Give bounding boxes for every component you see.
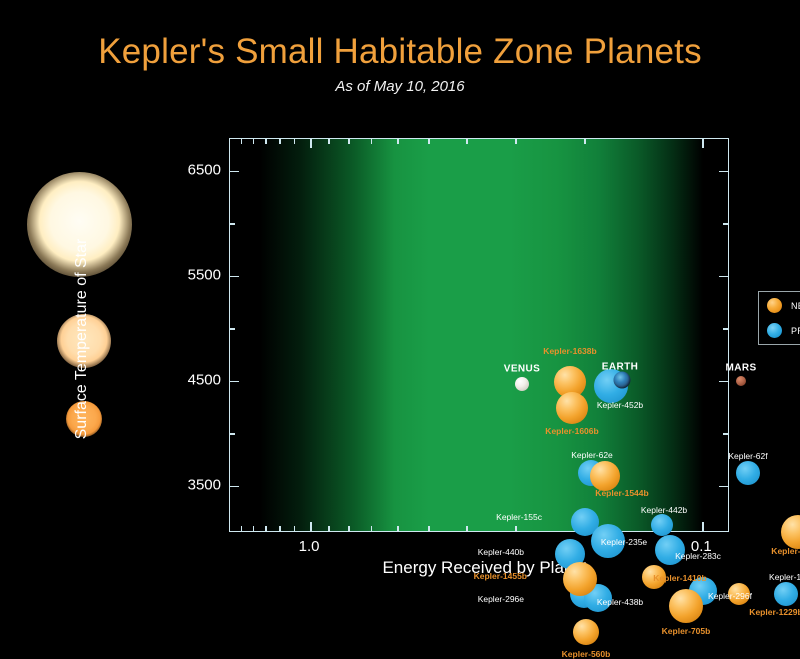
x-axis-tick: [515, 526, 517, 531]
y-axis-tick: [719, 276, 728, 278]
x-axis-tick: [397, 526, 399, 531]
planet-marker-kepler-186f[interactable]: [774, 582, 798, 606]
y-axis-tick: [230, 486, 239, 488]
planet-label-kepler-1606b: Kepler-1606b: [545, 426, 598, 436]
planet-label-kepler-62f: Kepler-62f: [728, 451, 767, 461]
y-axis-tick: [230, 276, 239, 278]
y-axis-tick: [230, 171, 239, 173]
x-axis-tick: [702, 139, 704, 148]
planet-marker-kepler-62f[interactable]: [736, 461, 760, 485]
planet-marker-kepler-1544b[interactable]: [590, 461, 620, 491]
planet-label-kepler-1229b: Kepler-1229b: [749, 607, 800, 617]
x-axis-tick: [702, 522, 704, 531]
x-axis-tick: [294, 139, 296, 144]
planet-label-kepler-1638b: Kepler-1638b: [543, 346, 596, 356]
legend-item-previously-verified: PREVIOUSLY VERIFIED PLANET: [767, 323, 800, 338]
planet-marker-kepler-1455b[interactable]: [563, 562, 597, 596]
page-title: Kepler's Small Habitable Zone Planets: [0, 34, 800, 69]
y-tick-label: 3500: [161, 476, 221, 493]
x-axis-tick: [371, 526, 373, 531]
x-axis-tick: [428, 139, 430, 144]
page-subtitle: As of May 10, 2016: [0, 78, 800, 95]
y-axis-tick: [230, 381, 239, 383]
y-axis-tick: [230, 433, 235, 435]
y-axis-tick: [230, 223, 235, 225]
legend-item-newly-validated: NEWLY VALIDATED PLANET: [767, 298, 800, 313]
planet-label-kepler-452b: Kepler-452b: [597, 400, 643, 410]
planet-label-kepler-62e: Kepler-62e: [571, 450, 613, 460]
planet-marker-kepler-1606b[interactable]: [556, 392, 588, 424]
legend-label-newly-validated: NEWLY VALIDATED PLANET: [791, 301, 800, 311]
title-block: Kepler's Small Habitable Zone Planets As…: [0, 34, 800, 95]
y-axis-tick: [723, 223, 728, 225]
planet-marker-kepler-442b[interactable]: [651, 514, 673, 536]
y-axis-tick: [719, 171, 728, 173]
x-axis-tick: [466, 139, 468, 144]
planet-label-kepler-1544b: Kepler-1544b: [595, 488, 648, 498]
x-axis-tick: [253, 139, 255, 144]
planet-label-kepler-440b: Kepler-440b: [478, 547, 524, 557]
x-axis-tick: [584, 139, 586, 144]
planet-label-kepler-186f: Kepler-186f: [769, 572, 800, 582]
plot-area: Kepler-1638bKepler-1606bKepler-1544bKepl…: [229, 138, 729, 532]
x-axis-tick: [265, 526, 267, 531]
y-axis-tick: [723, 433, 728, 435]
x-axis-tick: [348, 526, 350, 531]
planet-marker-mars[interactable]: [736, 376, 746, 386]
planet-label-kepler-1410b: Kepler-1410b: [653, 573, 706, 583]
planet-label-kepler-560b: Kepler-560b: [562, 649, 611, 659]
y-axis-tick: [719, 486, 728, 488]
x-tick-label: 1.0: [299, 538, 320, 555]
legend-label-previously-verified: PREVIOUSLY VERIFIED PLANET: [791, 326, 800, 336]
y-tick-label: 4500: [161, 371, 221, 388]
planet-marker-kepler-705b[interactable]: [669, 589, 703, 623]
y-axis-title: Surface Temperature of Star: [73, 219, 91, 459]
planet-marker-kepler-560b[interactable]: [573, 619, 599, 645]
legend-swatch-blue-icon: [767, 323, 782, 338]
y-axis-tick: [723, 328, 728, 330]
planet-label-kepler-296f: Kepler-296f: [708, 591, 752, 601]
planet-marker-venus[interactable]: [515, 377, 529, 391]
x-axis-tick: [253, 526, 255, 531]
x-axis-tick: [265, 139, 267, 144]
x-axis-tick: [397, 139, 399, 144]
y-tick-label: 5500: [161, 266, 221, 283]
x-axis-tick: [279, 139, 281, 144]
legend-swatch-orange-icon: [767, 298, 782, 313]
planet-label-kepler-283c: Kepler-283c: [675, 551, 721, 561]
planet-label-kepler-442b: Kepler-442b: [641, 505, 687, 515]
x-axis-tick: [466, 526, 468, 531]
x-axis-tick: [515, 139, 517, 144]
x-axis-tick: [328, 526, 330, 531]
planet-label-kepler-155c: Kepler-155c: [496, 512, 542, 522]
legend: NEWLY VALIDATED PLANET PREVIOUSLY VERIFI…: [758, 291, 800, 345]
x-axis-tick: [241, 139, 243, 144]
planet-label-mars: MARS: [725, 363, 756, 374]
planet-label-kepler-296e: Kepler-296e: [478, 594, 524, 604]
planet-marker-earth[interactable]: [614, 372, 631, 389]
y-axis-tick: [719, 381, 728, 383]
x-axis-tick: [328, 139, 330, 144]
planet-label-kepler-1593b: Kepler-1593b: [771, 546, 800, 556]
x-axis-tick: [294, 526, 296, 531]
x-axis-tick: [348, 139, 350, 144]
x-axis-tick: [428, 526, 430, 531]
planet-label-venus: VENUS: [504, 364, 540, 375]
planet-label-kepler-1455b: Kepler-1455b: [474, 571, 527, 581]
planet-label-kepler-438b: Kepler-438b: [597, 597, 643, 607]
x-axis-tick: [310, 139, 312, 148]
planet-label-kepler-235e: Kepler-235e: [601, 537, 647, 547]
x-axis-tick: [371, 139, 373, 144]
planet-label-earth: EARTH: [602, 362, 638, 373]
habitable-zone-band: [230, 139, 728, 531]
planet-label-kepler-705b: Kepler-705b: [662, 626, 711, 636]
planet-marker-kepler-1593b[interactable]: [781, 515, 800, 549]
x-axis-tick: [310, 522, 312, 531]
y-axis-tick: [230, 328, 235, 330]
y-tick-label: 6500: [161, 161, 221, 178]
x-axis-tick: [241, 526, 243, 531]
x-axis-tick: [279, 526, 281, 531]
